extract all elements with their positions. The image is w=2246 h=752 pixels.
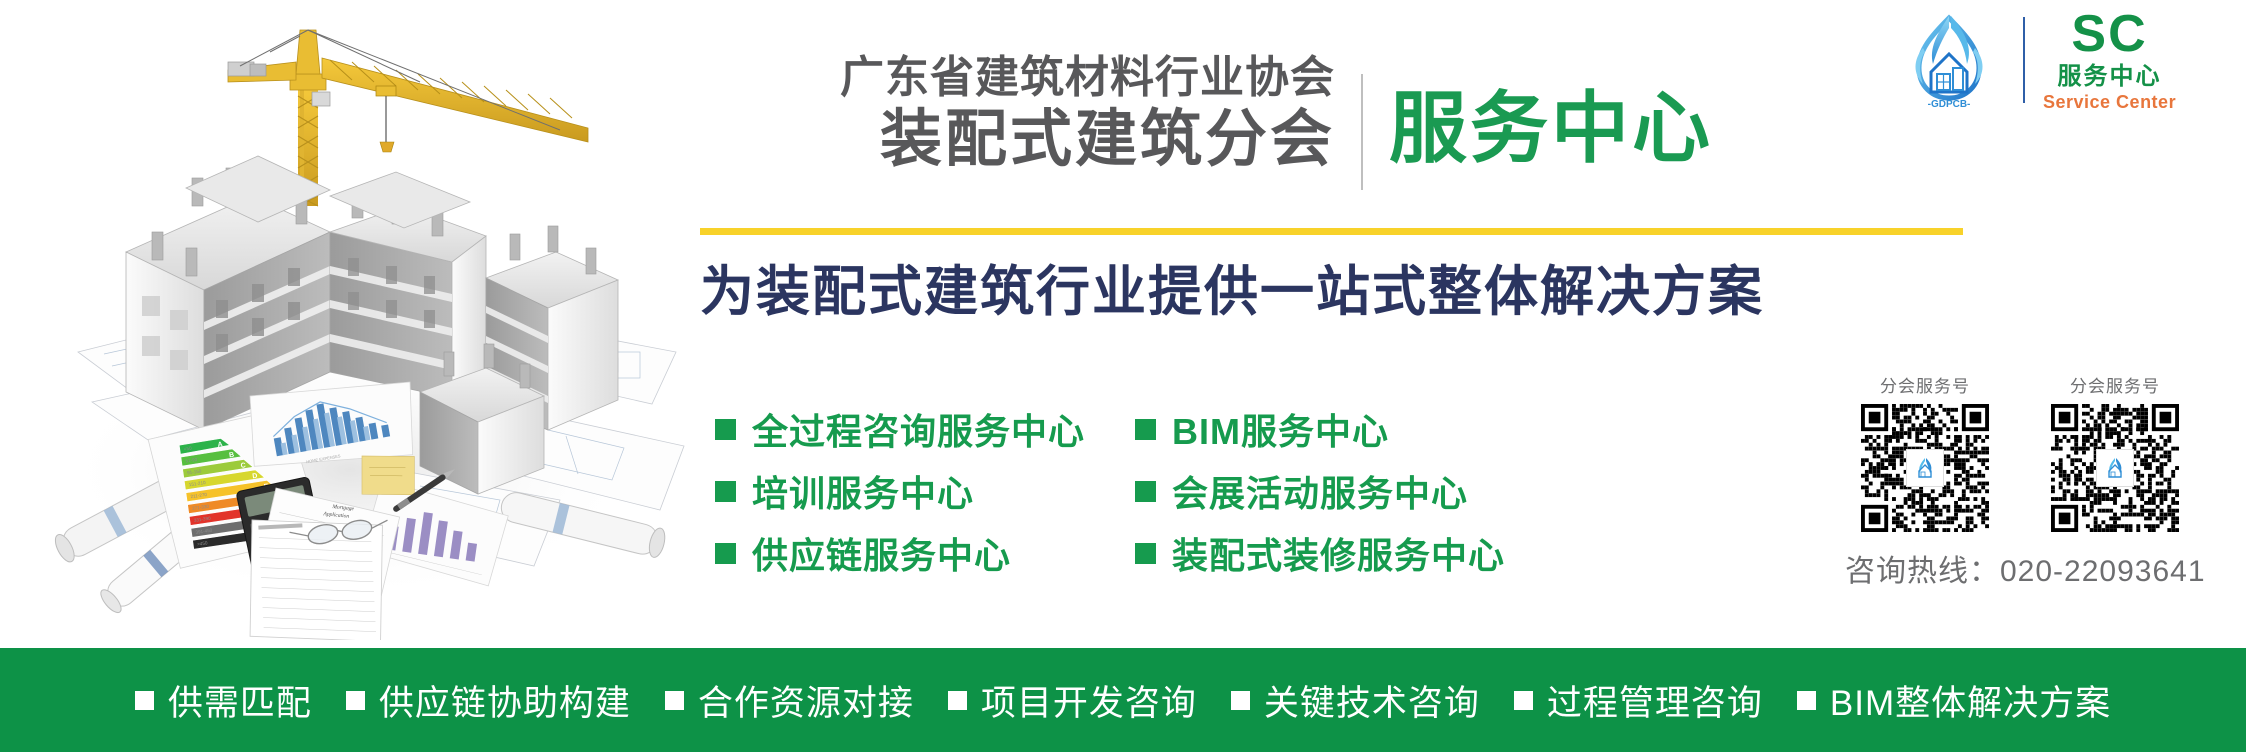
- hero-illustration: ABC DEF GHI <5051-9091-150 151-210211-27…: [0, 0, 690, 640]
- header-titles: 广东省建筑材料行业协会 装配式建筑分会 服务中心: [840, 52, 1713, 190]
- sticky-note: [358, 451, 418, 501]
- content-area: -GDPCB- SC 服务中心 Service Center 广东省建筑材料行业…: [690, 0, 2246, 640]
- service-label: 培训服务中心: [752, 465, 974, 517]
- bullet-square-icon: [1135, 419, 1156, 440]
- bullet-square-icon: [1135, 481, 1156, 502]
- logo-divider: [2023, 17, 2025, 103]
- qr-caption: 分会服务号: [1880, 372, 1970, 397]
- bullet-square-icon: [948, 691, 967, 710]
- gdpcb-emblem-icon: -GDPCB-: [1893, 10, 2005, 110]
- qr-code-image[interactable]: [1861, 404, 1989, 532]
- qr-center-logo-icon: [2096, 449, 2134, 487]
- footer-item[interactable]: 项目开发咨询: [948, 675, 1197, 726]
- svg-text:B: B: [229, 452, 235, 460]
- service-item[interactable]: BIM服务中心: [1135, 403, 1535, 455]
- bullet-square-icon: [135, 691, 154, 710]
- service-item[interactable]: 装配式装修服务中心: [1135, 527, 1535, 579]
- bullet-square-icon: [346, 691, 365, 710]
- service-item[interactable]: 供应链服务中心: [715, 527, 1115, 579]
- qr-row: 分会服务号 分会服务号: [1845, 372, 2220, 532]
- footer-label: 供需匹配: [168, 675, 312, 726]
- qr-center-logo-icon: [1906, 449, 1944, 487]
- footer-label: 过程管理咨询: [1547, 675, 1763, 726]
- footer-item[interactable]: 供需匹配: [135, 675, 312, 726]
- service-label: 装配式装修服务中心: [1172, 527, 1505, 579]
- organization-name: 广东省建筑材料行业协会 装配式建筑分会: [840, 52, 1335, 174]
- bullet-square-icon: [1514, 691, 1533, 710]
- footer-item[interactable]: 过程管理咨询: [1514, 675, 1763, 726]
- service-center-heading: 服务中心: [1389, 78, 1713, 178]
- service-label: 供应链服务中心: [752, 527, 1011, 579]
- gold-rule-divider: [700, 228, 1963, 235]
- qr-item: 分会服务号: [2035, 372, 2195, 532]
- service-item[interactable]: 会展活动服务中心: [1135, 465, 1535, 517]
- logo-wordmark: SC 服务中心 Service Center: [2043, 8, 2176, 111]
- footer-item[interactable]: BIM整体解决方案: [1797, 675, 2111, 726]
- brand-logo: -GDPCB- SC 服务中心 Service Center: [1893, 8, 2176, 111]
- logo-cn-label: 服务中心: [2058, 65, 2162, 89]
- tagline: 为装配式建筑行业提供一站式整体解决方案: [700, 258, 2100, 326]
- service-label: 会展活动服务中心: [1172, 465, 1468, 517]
- bullet-square-icon: [715, 419, 736, 440]
- logo-abbr: SC: [2071, 8, 2147, 60]
- footer-bar: 供需匹配 供应链协助构建 合作资源对接 项目开发咨询 关键技术咨询 过程管理咨询: [0, 648, 2246, 752]
- svg-text:A: A: [217, 441, 223, 449]
- bullet-square-icon: [665, 691, 684, 710]
- footer-label: 关键技术咨询: [1264, 675, 1480, 726]
- footer-label: 项目开发咨询: [981, 675, 1197, 726]
- footer-label: 供应链协助构建: [379, 675, 631, 726]
- qr-code-image[interactable]: [2051, 404, 2179, 532]
- bullet-square-icon: [715, 543, 736, 564]
- hotline-text: 咨询热线：020-22093641: [1845, 546, 2220, 590]
- footer-label: 合作资源对接: [698, 675, 914, 726]
- qr-item: 分会服务号: [1845, 372, 2005, 532]
- title-divider: [1361, 74, 1363, 190]
- footer-item[interactable]: 供应链协助构建: [346, 675, 631, 726]
- service-list: 全过程咨询服务中心 BIM服务中心 培训服务中心 会展活动服务中心 供应链服务中…: [715, 398, 1835, 584]
- service-label: BIM服务中心: [1172, 403, 1389, 455]
- bullet-square-icon: [1231, 691, 1250, 710]
- footer-item[interactable]: 关键技术咨询: [1231, 675, 1480, 726]
- svg-text:C: C: [240, 462, 246, 470]
- footer-label: BIM整体解决方案: [1830, 675, 2111, 726]
- service-label: 全过程咨询服务中心: [752, 403, 1085, 455]
- qr-caption: 分会服务号: [2070, 372, 2160, 397]
- hero-graphic: ABC DEF GHI <5051-9091-150 151-210211-27…: [0, 0, 690, 640]
- service-item[interactable]: 全过程咨询服务中心: [715, 403, 1115, 455]
- org-line-2: 装配式建筑分会: [880, 106, 1335, 174]
- service-item[interactable]: 培训服务中心: [715, 465, 1115, 517]
- emblem-caption: -GDPCB-: [1928, 99, 1971, 110]
- qr-contact-block: 分会服务号 分会服务号: [1845, 372, 2220, 590]
- footer-item[interactable]: 合作资源对接: [665, 675, 914, 726]
- bullet-square-icon: [715, 481, 736, 502]
- org-line-1: 广东省建筑材料行业协会: [840, 52, 1335, 104]
- bullet-square-icon: [1797, 691, 1816, 710]
- svg-text:D: D: [252, 473, 258, 481]
- bullet-square-icon: [1135, 543, 1156, 564]
- banner-root: ABC DEF GHI <5051-9091-150 151-210211-27…: [0, 0, 2246, 752]
- logo-en-label: Service Center: [2043, 93, 2176, 111]
- footer-items: 供需匹配 供应链协助构建 合作资源对接 项目开发咨询 关键技术咨询 过程管理咨询: [135, 675, 2111, 726]
